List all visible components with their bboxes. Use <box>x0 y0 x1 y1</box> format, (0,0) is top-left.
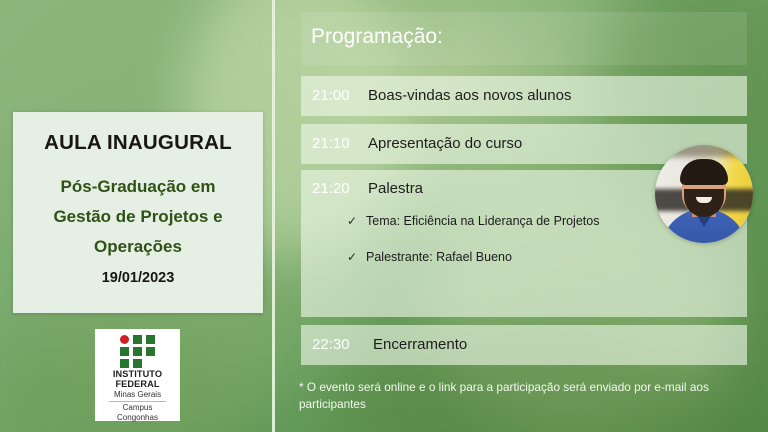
list-item: ✓ Tema: Eficiência na Liderança de Proje… <box>347 212 657 231</box>
speaker-photo-background <box>655 145 753 157</box>
list-item-label: Tema: Eficiência na Liderança de Projeto… <box>366 214 599 228</box>
course-name: Pós-Graduação em Gestão de Projetos e Op… <box>23 172 253 262</box>
talk-details-list: ✓ Tema: Eficiência na Liderança de Proje… <box>347 212 657 284</box>
speaker-eye <box>686 181 692 185</box>
panel-divider <box>272 0 275 432</box>
event-date: 19/01/2023 <box>13 270 263 286</box>
logo-divider <box>109 401 166 402</box>
schedule-description: Boas-vindas aos novos alunos <box>368 87 571 104</box>
footnote-text: * O evento será online e o link para a p… <box>299 379 731 413</box>
course-name-line-3: Operações <box>23 232 253 262</box>
check-icon: ✓ <box>347 248 357 267</box>
schedule-row-welcome: 21:00 Boas-vindas aos novos alunos <box>301 76 747 116</box>
if-logo-mark-icon <box>120 335 156 368</box>
schedule-time: 21:00 <box>312 87 350 104</box>
slide-root: AULA INAUGURAL Pós-Graduação em Gestão d… <box>0 0 768 432</box>
schedule-header: Programação: <box>301 12 747 65</box>
page-title: AULA INAUGURAL <box>13 131 263 155</box>
schedule-time: 22:30 <box>312 336 350 353</box>
schedule-description: Apresentação do curso <box>368 135 522 152</box>
speaker-eye <box>702 181 708 185</box>
logo-campus: Campus Congonhas <box>95 403 180 422</box>
logo-campus-line-2: Congonhas <box>95 413 180 423</box>
schedule-description: Encerramento <box>373 336 467 353</box>
institution-logo: INSTITUTO FEDERAL Minas Gerais Campus Co… <box>95 329 180 421</box>
logo-state: Minas Gerais <box>95 390 180 399</box>
logo-campus-line-1: Campus <box>95 403 180 413</box>
schedule-header-label: Programação: <box>311 25 443 49</box>
logo-name-line-2: FEDERAL <box>95 380 180 390</box>
event-title-card: AULA INAUGURAL Pós-Graduação em Gestão d… <box>13 112 263 313</box>
course-name-line-1: Pós-Graduação em <box>23 172 253 202</box>
logo-institution-name: INSTITUTO FEDERAL <box>95 370 180 389</box>
schedule-time: 21:10 <box>312 135 350 152</box>
list-item: ✓ Palestrante: Rafael Bueno <box>347 248 657 267</box>
schedule-time: 21:20 <box>312 180 350 197</box>
check-icon: ✓ <box>347 212 357 231</box>
schedule-description: Palestra <box>368 180 423 197</box>
list-item-label: Palestrante: Rafael Bueno <box>366 250 512 264</box>
course-name-line-2: Gestão de Projetos e <box>23 202 253 232</box>
speaker-photo <box>655 145 753 243</box>
schedule-row-closing: 22:30 Encerramento <box>301 325 747 365</box>
